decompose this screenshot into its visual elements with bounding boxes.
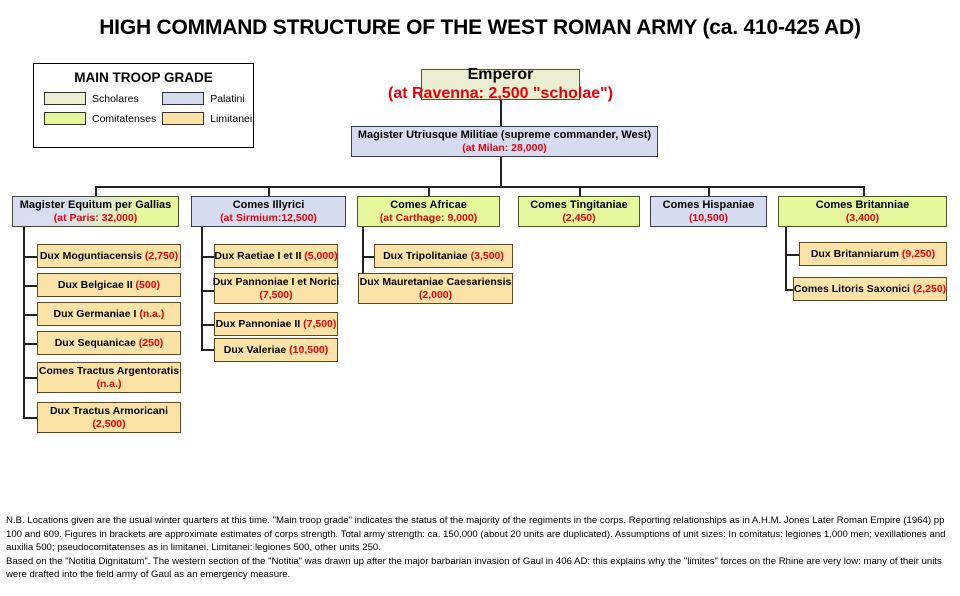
node-dux-raetiae-i-et-ii[interactable]: Dux Raetiae I et II (5,000) bbox=[214, 244, 338, 268]
node-dux-belgicae-ii-name: Dux Belgicae II bbox=[58, 279, 133, 291]
node-dux-tripolitaniae-name: Dux Tripolitaniae bbox=[383, 250, 468, 262]
node-comes-hispaniae[interactable]: Comes Hispaniae (10,500) bbox=[650, 196, 767, 227]
node-comes-tractus-argentoratis-name: Comes Tractus Argentoratis bbox=[39, 365, 179, 377]
node-dux-germaniae-i-name: Dux Germaniae I bbox=[54, 308, 137, 320]
node-dux-raetiae-name: Dux Raetiae I et II bbox=[214, 250, 301, 262]
connector-drop-tingitaniae bbox=[579, 186, 581, 196]
node-dux-belgicae-ii[interactable]: Dux Belgicae II (500) bbox=[37, 273, 181, 297]
node-dux-tractus-armoricani-qty: (2,500) bbox=[92, 418, 125, 430]
legend-swatch-comitatenses bbox=[44, 112, 86, 125]
legend-item-comitatenses: Comitatenses bbox=[44, 112, 156, 125]
node-dux-germaniae-i[interactable]: Dux Germaniae I (n.a.) bbox=[37, 302, 181, 326]
legend-item-palatini: Palatini bbox=[162, 92, 252, 105]
node-illyrici-name: Comes Illyrici bbox=[233, 199, 305, 212]
footnotes: N.B. Locations given are the usual winte… bbox=[6, 514, 956, 582]
connector-stub-gallias-1 bbox=[23, 256, 37, 258]
footnote-line-1: N.B. Locations given are the usual winte… bbox=[6, 514, 956, 555]
node-dux-pannoniae-i-name: Dux Pannoniae I et Norici bbox=[213, 276, 340, 288]
node-dux-sequanicae[interactable]: Dux Sequanicae (250) bbox=[37, 331, 181, 355]
node-dux-mauretaniae-caesariensis[interactable]: Dux Mauretaniae Caesariensis (2,000) bbox=[358, 273, 513, 304]
node-comes-tractus-argentoratis[interactable]: Comes Tractus Argentoratis (n.a.) bbox=[37, 362, 181, 393]
connector-stub-illyrici-1 bbox=[201, 256, 214, 258]
node-comes-illyrici[interactable]: Comes Illyrici (at Sirmium:12,500) bbox=[191, 196, 346, 227]
node-dux-mauretaniae-qty: (2,000) bbox=[419, 289, 452, 301]
node-dux-pannoniae-i-qty: (7,500) bbox=[259, 289, 292, 301]
legend-label-scholares: Scholares bbox=[92, 93, 139, 105]
node-dux-tractus-armoricani[interactable]: Dux Tractus Armoricani (2,500) bbox=[37, 402, 181, 433]
connector-drop-illyrici bbox=[268, 186, 270, 196]
connector-stub-illyrici-3 bbox=[201, 324, 214, 326]
connector-stub-gallias-4 bbox=[23, 343, 37, 345]
connector-stub-gallias-5 bbox=[23, 377, 37, 379]
legend-label-comitatenses: Comitatenses bbox=[92, 113, 156, 125]
node-dux-tractus-armoricani-name: Dux Tractus Armoricani bbox=[50, 405, 168, 417]
node-britanniae-name: Comes Britanniae bbox=[816, 199, 910, 212]
node-emperor-detail: (at Ravenna: 2,500 "scholae") bbox=[388, 85, 613, 104]
node-comes-litoris-saxonici-name: Comes Litoris Saxonici bbox=[794, 283, 910, 295]
legend-main-troop-grade: MAIN TROOP GRADE Scholares Palatini Comi… bbox=[33, 63, 254, 148]
node-dux-pannoniae-ii-qty: (7,500) bbox=[303, 318, 336, 330]
connector-stub-illyrici-4 bbox=[201, 349, 214, 351]
node-dux-moguntiacensis-qty: (2,750) bbox=[145, 250, 178, 262]
node-comes-litoris-saxonici[interactable]: Comes Litoris Saxonici (2,250) bbox=[793, 277, 947, 301]
node-dux-tripolitaniae[interactable]: Dux Tripolitaniae (3,500) bbox=[374, 244, 513, 268]
node-dux-valeriae-qty: (10,500) bbox=[289, 344, 328, 356]
node-dux-tripolitaniae-qty: (3,500) bbox=[471, 250, 504, 262]
node-dux-moguntiacensis-name: Dux Moguntiacensis bbox=[40, 250, 142, 262]
legend-item-limitanei: Limitanei bbox=[162, 112, 252, 125]
node-dux-sequanicae-qty: (250) bbox=[139, 337, 164, 349]
node-dux-britanniarum-qty: (9,250) bbox=[902, 248, 935, 260]
node-magister-equitum-per-gallias[interactable]: Magister Equitum per Gallias (at Paris: … bbox=[12, 196, 179, 227]
node-magister-name: Magister Utriusque Militiae (supreme com… bbox=[358, 129, 651, 142]
node-dux-raetiae-qty: (5,000) bbox=[304, 250, 337, 262]
node-dux-belgicae-ii-qty: (500) bbox=[136, 279, 161, 291]
node-dux-sequanicae-name: Dux Sequanicae bbox=[55, 337, 136, 349]
node-dux-valeriae-name: Dux Valeriae bbox=[224, 344, 286, 356]
node-africae-name: Comes Africae bbox=[390, 199, 467, 212]
connector-spine-illyrici bbox=[201, 227, 203, 349]
connector-drop-britanniae bbox=[863, 186, 865, 196]
node-hispaniae-detail: (10,500) bbox=[689, 212, 728, 224]
node-comes-africae[interactable]: Comes Africae (at Carthage: 9,000) bbox=[357, 196, 500, 227]
connector-stub-gallias-6 bbox=[23, 417, 37, 419]
legend-swatch-palatini bbox=[162, 92, 204, 105]
node-dux-germaniae-i-qty: (n.a.) bbox=[139, 308, 164, 320]
legend-item-scholares: Scholares bbox=[44, 92, 156, 105]
node-gallias-name: Magister Equitum per Gallias bbox=[20, 199, 172, 212]
legend-label-palatini: Palatini bbox=[210, 93, 244, 105]
connector-drop-africae bbox=[428, 186, 430, 196]
connector-stub-illyrici-2 bbox=[201, 290, 214, 292]
legend-swatch-scholares bbox=[44, 92, 86, 105]
legend-swatch-limitanei bbox=[162, 112, 204, 125]
node-comes-litoris-saxonici-qty: (2,250) bbox=[913, 283, 946, 295]
node-britanniae-detail: (3,400) bbox=[846, 212, 879, 224]
node-gallias-detail: (at Paris: 32,000) bbox=[54, 212, 137, 224]
connector-tier2-bus bbox=[95, 186, 864, 188]
node-magister-utriusque-militiae[interactable]: Magister Utriusque Militiae (supreme com… bbox=[351, 126, 658, 157]
node-illyrici-detail: (at Sirmium:12,500) bbox=[220, 212, 317, 224]
node-magister-detail: (at Milan: 28,000) bbox=[462, 142, 547, 154]
node-comes-tingitaniae[interactable]: Comes Tingitaniae (2,450) bbox=[518, 196, 640, 227]
connector-emperor-magister bbox=[500, 100, 502, 128]
node-hispaniae-name: Comes Hispaniae bbox=[663, 199, 755, 212]
connector-stub-gallias-2 bbox=[23, 285, 37, 287]
node-dux-pannoniae-ii[interactable]: Dux Pannoniae II (7,500) bbox=[214, 312, 338, 336]
node-emperor-name: Emperor bbox=[468, 66, 534, 85]
node-tingitaniae-detail: (2,450) bbox=[562, 212, 595, 224]
legend-label-limitanei: Limitanei bbox=[210, 113, 252, 125]
node-dux-moguntiacensis[interactable]: Dux Moguntiacensis (2,750) bbox=[37, 244, 181, 268]
node-emperor[interactable]: Emperor (at Ravenna: 2,500 "scholae") bbox=[421, 69, 580, 100]
connector-drop-hispaniae bbox=[708, 186, 710, 196]
node-dux-pannoniae-i-et-norici[interactable]: Dux Pannoniae I et Norici (7,500) bbox=[214, 273, 338, 304]
legend-items: Scholares Palatini Comitatenses Limitane… bbox=[34, 92, 253, 125]
node-comes-tractus-argentoratis-qty: (n.a.) bbox=[96, 378, 121, 390]
node-tingitaniae-name: Comes Tingitaniae bbox=[530, 199, 628, 212]
connector-magister-bus bbox=[500, 157, 502, 186]
footnote-line-2: Based on the "Notitia Dignitatum". The w… bbox=[6, 555, 956, 582]
node-africae-detail: (at Carthage: 9,000) bbox=[380, 212, 477, 224]
connector-stub-britanniae-2 bbox=[785, 289, 793, 291]
node-dux-britanniarum-name: Dux Britanniarum bbox=[811, 248, 899, 260]
connector-stub-africae-1 bbox=[362, 256, 374, 258]
node-dux-valeriae[interactable]: Dux Valeriae (10,500) bbox=[214, 338, 338, 362]
connector-stub-gallias-3 bbox=[23, 314, 37, 316]
connector-stub-britanniae-1 bbox=[785, 254, 799, 256]
legend-title: MAIN TROOP GRADE bbox=[34, 70, 253, 85]
node-dux-moguntiacensis-text: Dux Moguntiacensis (2,750) bbox=[40, 250, 178, 262]
node-dux-pannoniae-ii-name: Dux Pannoniae II bbox=[216, 318, 301, 330]
connector-spine-britanniae bbox=[785, 227, 787, 290]
page-title: HIGH COMMAND STRUCTURE OF THE WEST ROMAN… bbox=[0, 16, 960, 40]
node-comes-britanniae[interactable]: Comes Britanniae (3,400) bbox=[778, 196, 947, 227]
connector-drop-gallias bbox=[95, 186, 97, 196]
node-dux-mauretaniae-name: Dux Mauretaniae Caesariensis bbox=[360, 276, 512, 288]
node-dux-britanniarum[interactable]: Dux Britanniarum (9,250) bbox=[799, 242, 947, 266]
